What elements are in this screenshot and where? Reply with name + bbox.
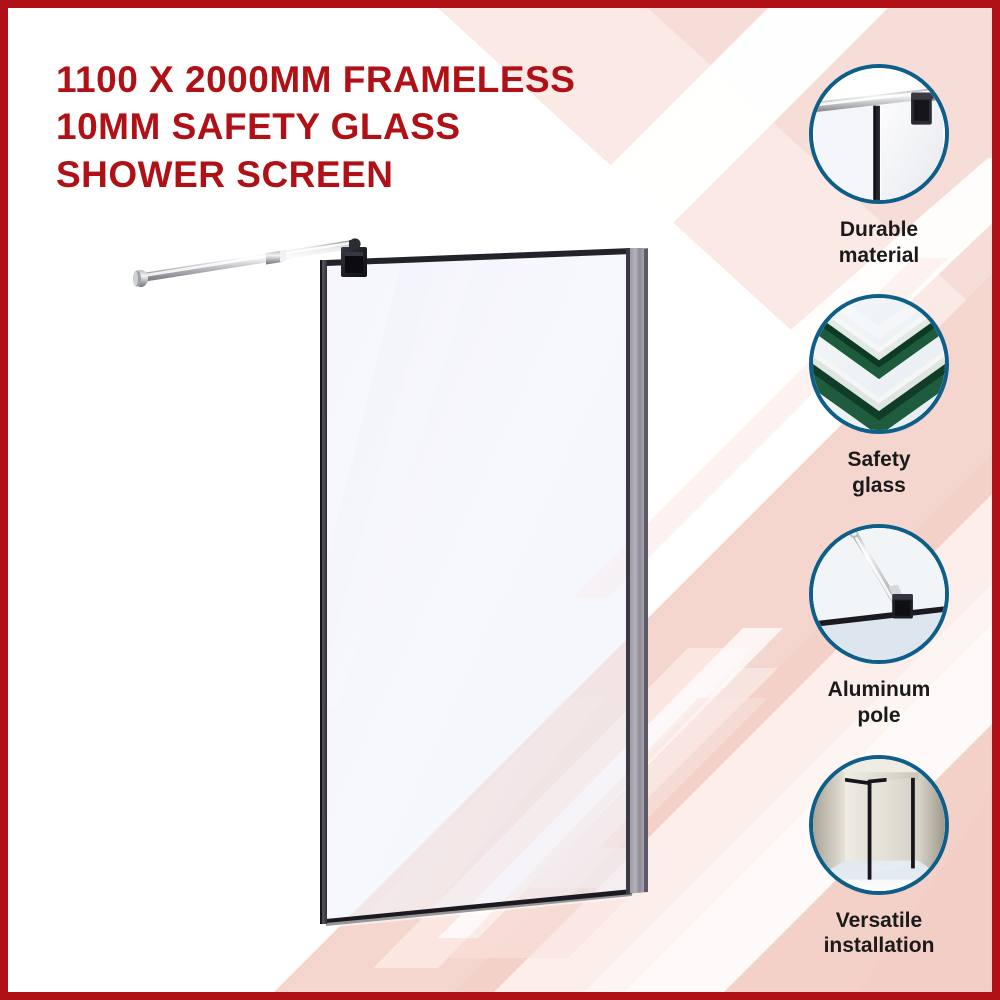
- feature-list: Durable material: [774, 64, 984, 967]
- glass-left-channel: [320, 260, 327, 924]
- page-title: 1100 X 2000MM FRAMELESS 10MM SAFETY GLAS…: [56, 56, 656, 198]
- feature-label-durable-material: Durable material: [839, 217, 920, 268]
- feature-versatile-installation: Versatile installation: [774, 755, 984, 959]
- bracket-rail-icon: [809, 64, 949, 204]
- feature-label-aluminum-pole: Aluminum pole: [828, 677, 931, 728]
- glass-right-profile: [626, 248, 648, 894]
- product-poster: 1100 X 2000MM FRAMELESS 10MM SAFETY GLAS…: [0, 0, 1000, 1000]
- shower-enclosure-icon: [809, 755, 949, 895]
- glass-panel: [326, 248, 632, 928]
- title-line-3: SHOWER SCREEN: [56, 151, 656, 198]
- feature-durable-material: Durable material: [774, 64, 984, 268]
- feature-label-versatile-installation: Versatile installation: [824, 908, 935, 959]
- feature-label-safety-glass: Safety glass: [847, 447, 910, 498]
- laminated-glass-layers-icon: [809, 294, 949, 434]
- support-pole-icon: [809, 524, 949, 664]
- feature-safety-glass: Safety glass: [774, 294, 984, 498]
- feature-aluminum-pole: Aluminum pole: [774, 524, 984, 728]
- title-line-1: 1100 X 2000MM FRAMELESS: [56, 56, 656, 103]
- title-line-2: 10MM SAFETY GLASS: [56, 103, 656, 150]
